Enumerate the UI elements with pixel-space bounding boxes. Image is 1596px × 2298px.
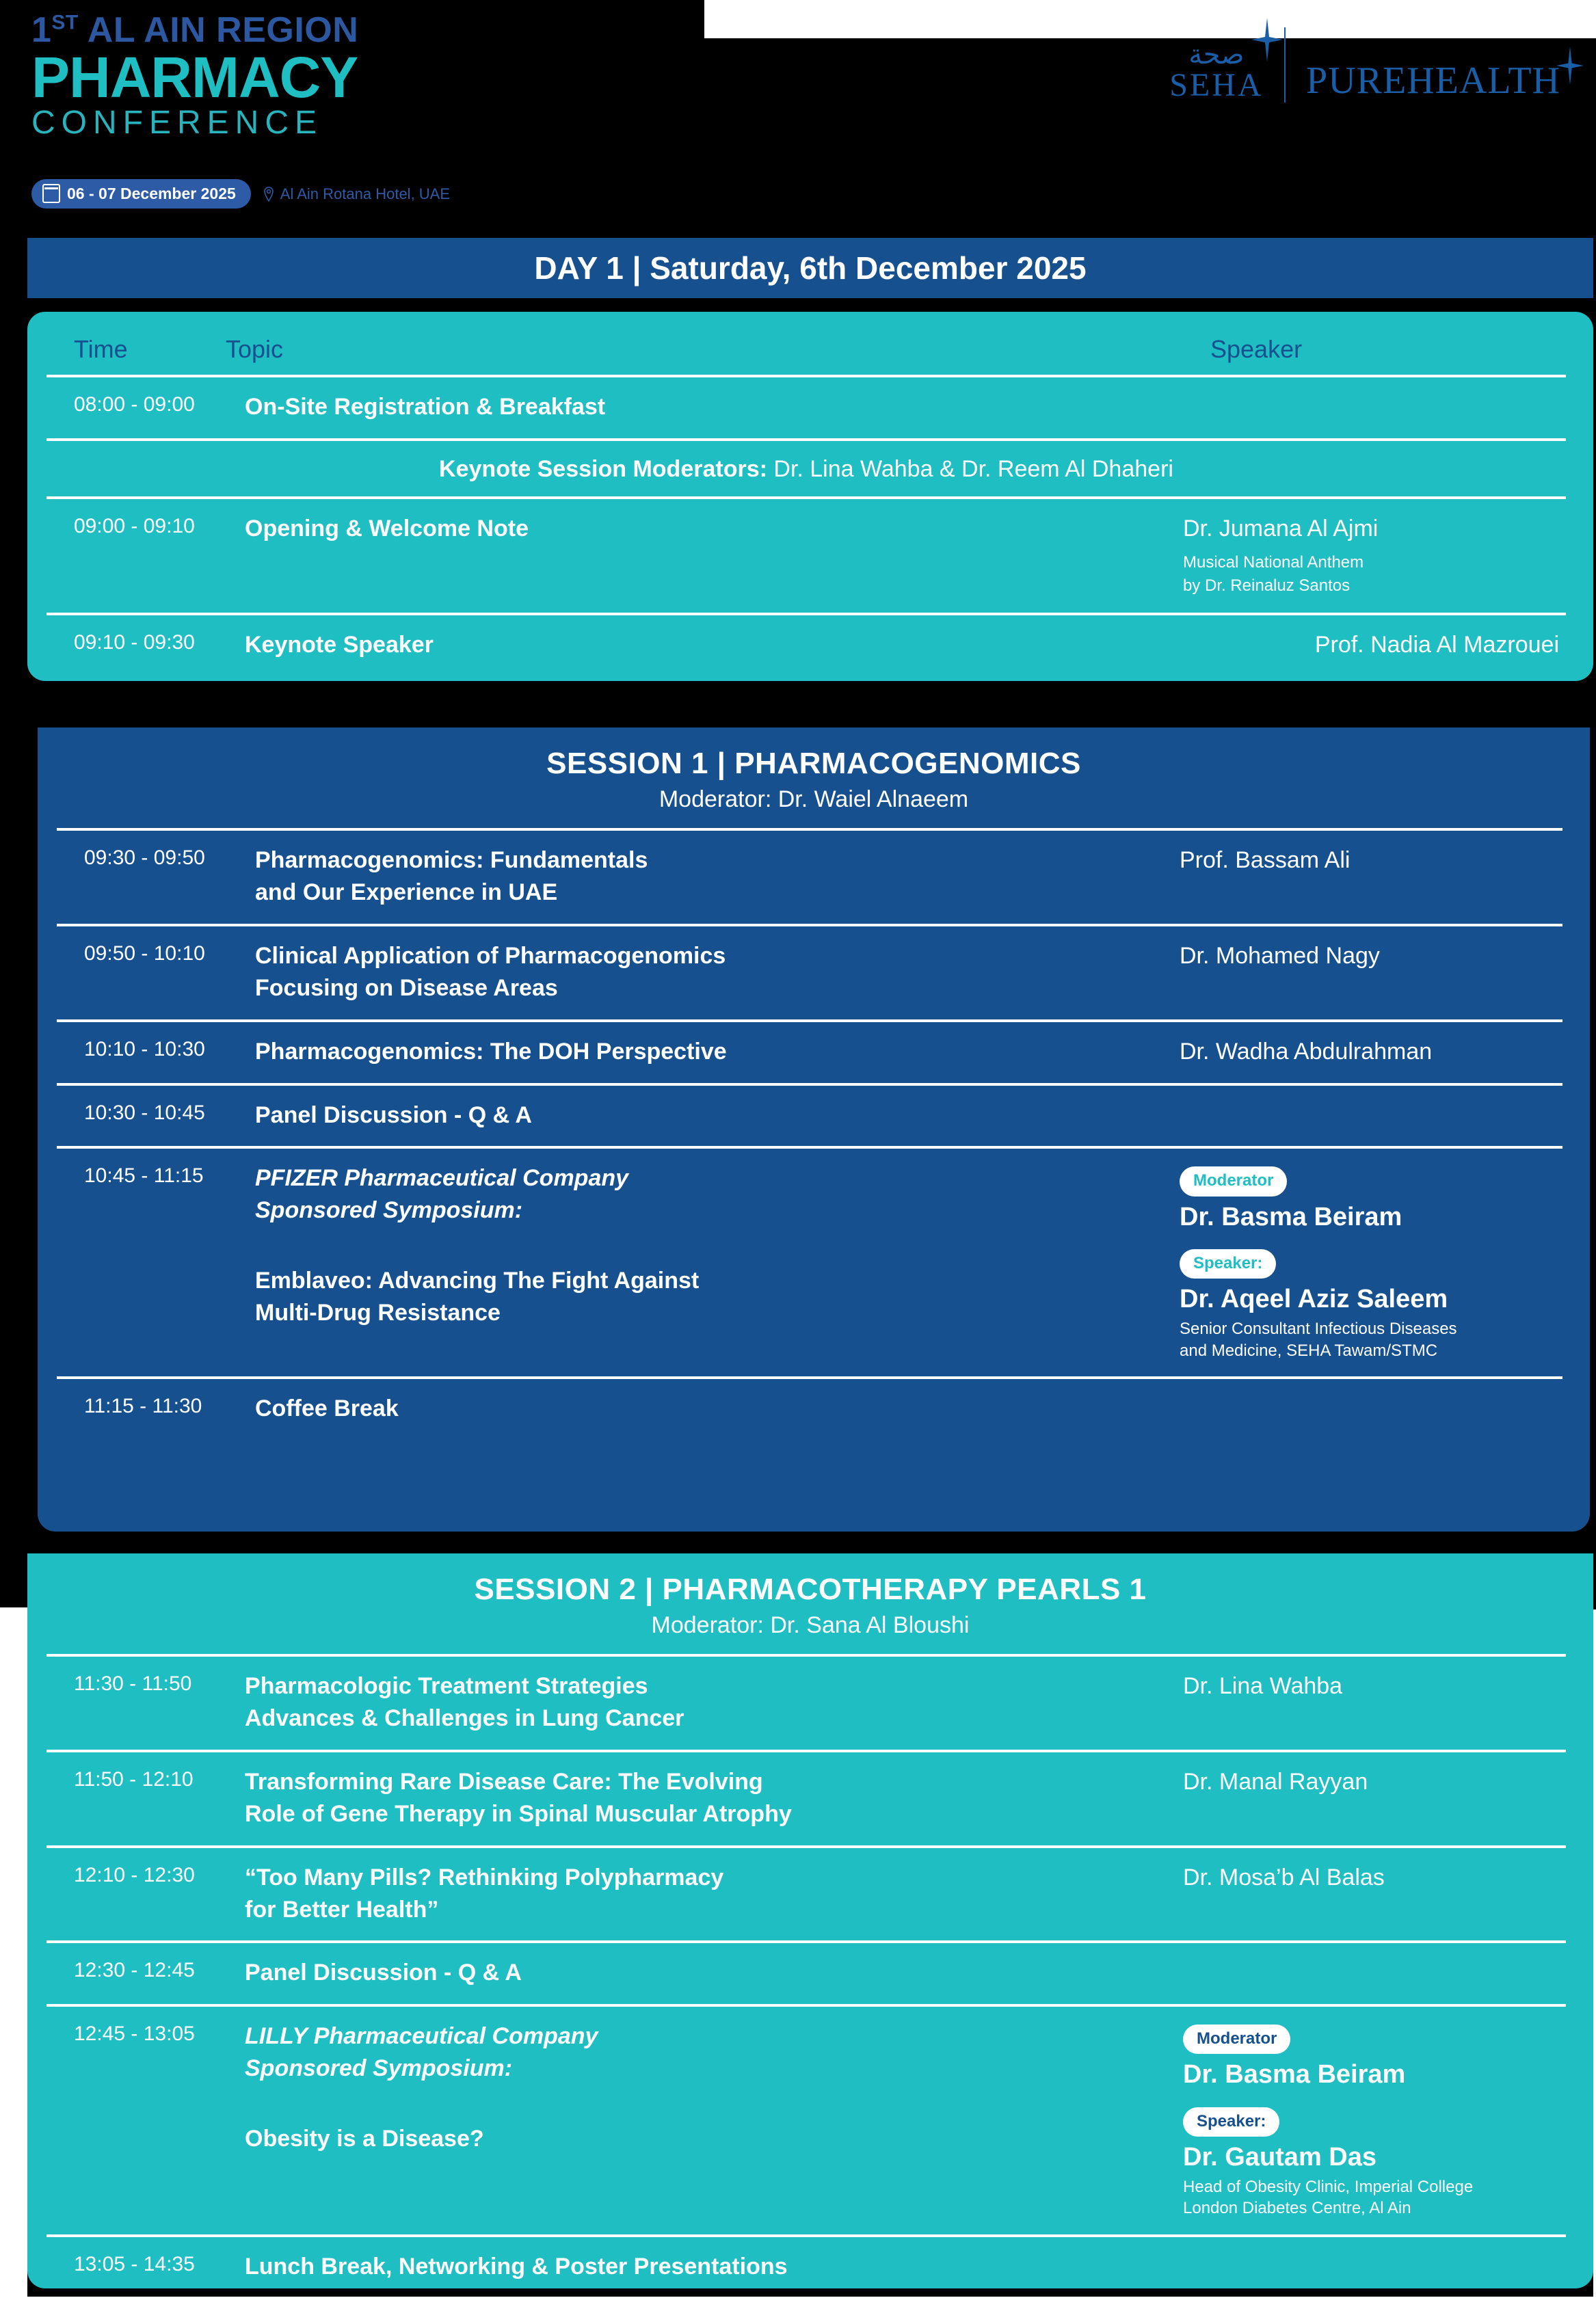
row-topic: PFIZER Pharmaceutical CompanySponsored S… (241, 1162, 1180, 1361)
partner-logos: صحة SEHA PUREHEALTH (1169, 27, 1560, 103)
row-topic: Panel Discussion - Q & A (241, 1099, 1180, 1132)
sparkle-icon-2 (1556, 46, 1584, 85)
session-2-title: SESSION 2 | PHARMACOTHERAPY PEARLS 1 (27, 1573, 1593, 1607)
speaker-block: Speaker: Dr. Gautam Das Head of Obesity … (1183, 2103, 1566, 2219)
row-time: 09:10 - 09:30 (46, 629, 231, 661)
table-row-symposium[interactable]: 10:45 - 11:15 PFIZER Pharmaceutical Comp… (57, 1146, 1562, 1376)
table-row[interactable]: 11:15 - 11:30 Coffee Break (57, 1376, 1562, 1440)
moderator-name: Dr. Basma Beiram (1180, 1202, 1562, 1233)
logo-line-pharmacy: PHARMACY (31, 51, 358, 105)
row-time: 09:50 - 10:10 (57, 940, 241, 1004)
speaker-name: Dr. Gautam Das (1183, 2142, 1566, 2174)
location-pin-icon (263, 187, 274, 202)
spacer (255, 1227, 1180, 1265)
row-topic: “Too Many Pills? Rethinking Polypharmacy… (231, 1862, 1183, 1926)
calendar-icon (42, 184, 60, 203)
logo-ordinal-suffix: ST (51, 12, 78, 34)
day-banner-label: DAY 1 | Saturday, 6th December 2025 (534, 250, 1086, 286)
row-time: 10:45 - 11:15 (57, 1162, 241, 1361)
logo-region-text: AL AIN REGION (79, 10, 359, 50)
row-time: 10:30 - 10:45 (57, 1099, 241, 1132)
speaker-block: Speaker: Dr. Aqeel Aziz Saleem Senior Co… (1180, 1245, 1562, 1361)
keynote-moderators-row: Keynote Session Moderators: Dr. Lina Wah… (46, 438, 1566, 496)
row-time: 11:50 - 12:10 (46, 1766, 231, 1830)
table-row[interactable]: 09:10 - 09:30 Keynote Speaker Prof. Nadi… (46, 613, 1566, 676)
row-speaker (1180, 1099, 1562, 1132)
symposium-sponsor: LILLY Pharmaceutical CompanySponsored Sy… (245, 2020, 1183, 2085)
row-time: 13:05 - 14:35 (46, 2251, 231, 2283)
speaker-note-2: by Dr. Reinaluz Santos (1183, 575, 1566, 597)
table-row[interactable]: 11:30 - 11:50 Pharmacologic Treatment St… (46, 1654, 1566, 1750)
row-speaker: Prof. Bassam Ali (1180, 844, 1562, 909)
speaker-badge: Speaker: (1183, 2107, 1279, 2137)
row-topic: LILLY Pharmaceutical CompanySponsored Sy… (231, 2020, 1183, 2219)
conference-logo: 1ST AL AIN REGION PHARMACY CONFERENCE (31, 12, 358, 139)
row-time: 11:15 - 11:30 (57, 1393, 241, 1425)
row-speaker (1180, 1393, 1562, 1425)
moderator-name: Dr. Basma Beiram (1183, 2059, 1566, 2091)
row-topic: Panel Discussion - Q & A (231, 1957, 1183, 1989)
header-meta: 06 - 07 December 2025 Al Ain Rotana Hote… (31, 179, 450, 209)
row-topic: Transforming Rare Disease Care: The Evol… (231, 1766, 1183, 1830)
table-row-symposium[interactable]: 12:45 - 13:05 LILLY Pharmaceutical Compa… (46, 2004, 1566, 2234)
session-2-rows: 11:30 - 11:50 Pharmacologic Treatment St… (27, 1654, 1593, 2298)
row-speaker: Moderator Dr. Basma Beiram Speaker: Dr. … (1180, 1162, 1562, 1361)
row-topic: Coffee Break (241, 1393, 1180, 1425)
speaker-name: Dr. Jumana Al Ajmi (1183, 513, 1566, 545)
date-badge-label: 06 - 07 December 2025 (67, 185, 236, 203)
speaker-name: Dr. Aqeel Aziz Saleem (1180, 1284, 1562, 1315)
logo-line-conference: CONFERENCE (31, 107, 358, 139)
column-header-topic: Topic (212, 335, 1210, 364)
session-2-card: SESSION 2 | PHARMACOTHERAPY PEARLS 1 Mod… (27, 1553, 1593, 2288)
row-time: 08:00 - 09:00 (46, 391, 231, 423)
row-topic: Lunch Break, Networking & Poster Present… (231, 2251, 1183, 2283)
row-speaker: Dr. Jumana Al Ajmi Musical National Anth… (1183, 513, 1566, 598)
row-topic: On-Site Registration & Breakfast (231, 391, 1183, 423)
seha-english: SEHA (1169, 68, 1263, 103)
row-speaker: Moderator Dr. Basma Beiram Speaker: Dr. … (1183, 2020, 1566, 2219)
row-topic: Pharmacogenomics: Fundamentalsand Our Ex… (241, 844, 1180, 909)
seha-arabic: صحة (1169, 41, 1263, 68)
session-2-title-block: SESSION 2 | PHARMACOTHERAPY PEARLS 1 Mod… (27, 1553, 1593, 1639)
speaker-badge: Speaker: (1180, 1249, 1276, 1279)
conference-header: 1ST AL AIN REGION PHARMACY CONFERENCE 06… (0, 0, 1596, 219)
row-time: 09:30 - 09:50 (57, 844, 241, 909)
row-speaker: Dr. Mohamed Nagy (1180, 940, 1562, 1004)
day-banner: DAY 1 | Saturday, 6th December 2025 (27, 238, 1593, 298)
keynote-rows: 08:00 - 09:00 On-Site Registration & Bre… (27, 375, 1593, 676)
symposium-sponsor: PFIZER Pharmaceutical CompanySponsored S… (255, 1162, 1180, 1227)
symposium-topic: Obesity is a Disease? (245, 2123, 1183, 2155)
row-speaker: Dr. Wadha Abdulrahman (1180, 1036, 1562, 1068)
venue-label: Al Ain Rotana Hotel, UAE (280, 185, 450, 203)
row-speaker: Dr. Lina Wahba (1183, 1670, 1566, 1735)
venue-info: Al Ain Rotana Hotel, UAE (263, 185, 450, 203)
row-time: 10:10 - 10:30 (57, 1036, 241, 1068)
sparkle-icon (1251, 18, 1283, 62)
moderator-badge: Moderator (1183, 2025, 1290, 2054)
table-row[interactable]: 10:10 - 10:30 Pharmacogenomics: The DOH … (57, 1019, 1562, 1083)
session-1-title: SESSION 1 | PHARMACOGENOMICS (38, 747, 1590, 781)
moderator-badge: Moderator (1180, 1166, 1287, 1196)
row-speaker (1183, 391, 1566, 423)
row-topic: Pharmacogenomics: The DOH Perspective (241, 1036, 1180, 1068)
row-speaker (1183, 2251, 1566, 2283)
symposium-topic: Emblaveo: Advancing The Fight AgainstMul… (255, 1265, 1180, 1329)
table-row[interactable]: 10:30 - 10:45 Panel Discussion - Q & A (57, 1083, 1562, 1147)
session-1-moderator: Moderator: Dr. Waiel Alnaeem (38, 786, 1590, 813)
speaker-note-1: Musical National Anthem (1183, 552, 1566, 574)
date-badge: 06 - 07 December 2025 (31, 179, 251, 209)
table-row[interactable]: 09:30 - 09:50 Pharmacogenomics: Fundamen… (57, 828, 1562, 924)
row-speaker: Dr. Mosa’b Al Balas (1183, 1862, 1566, 1926)
moderator-block: Moderator Dr. Basma Beiram (1180, 1162, 1562, 1233)
session-1-title-block: SESSION 1 | PHARMACOGENOMICS Moderator: … (38, 727, 1590, 813)
logo-divider (1284, 27, 1286, 103)
row-time: 12:45 - 13:05 (46, 2020, 231, 2219)
row-time: 12:30 - 12:45 (46, 1957, 231, 1989)
row-topic: Keynote Speaker (231, 629, 1176, 661)
row-speaker: Prof. Nadia Al Mazrouei (1176, 629, 1566, 661)
seha-logo: صحة SEHA (1169, 41, 1263, 103)
table-row[interactable]: 09:50 - 10:10 Clinical Application of Ph… (57, 924, 1562, 1019)
spacer (245, 2085, 1183, 2123)
table-row[interactable]: 12:30 - 12:45 Panel Discussion - Q & A (46, 1940, 1566, 2004)
logo-line-region: 1ST AL AIN REGION (31, 12, 358, 48)
row-speaker (1183, 1957, 1566, 1989)
table-row[interactable]: 11:50 - 12:10 Transforming Rare Disease … (46, 1750, 1566, 1845)
table-row[interactable]: 12:10 - 12:30 “Too Many Pills? Rethinkin… (46, 1845, 1566, 1941)
keynote-card: Time Topic Speaker 08:00 - 09:00 On-Site… (27, 312, 1593, 681)
table-row[interactable]: 13:05 - 14:35 Lunch Break, Networking & … (46, 2234, 1566, 2298)
table-row[interactable]: 09:00 - 09:10 Opening & Welcome Note Dr.… (46, 496, 1566, 613)
row-time: 11:30 - 11:50 (46, 1670, 231, 1735)
keynote-moderators-label: Keynote Session Moderators: (439, 456, 767, 482)
row-topic: Opening & Welcome Note (231, 513, 1183, 598)
session-1-rows: 09:30 - 09:50 Pharmacogenomics: Fundamen… (38, 828, 1590, 1440)
session-1-card: SESSION 1 | PHARMACOGENOMICS Moderator: … (38, 727, 1590, 1532)
column-header-time: Time (27, 335, 212, 364)
row-speaker: Dr. Manal Rayyan (1183, 1766, 1566, 1830)
row-topic: Clinical Application of Pharmacogenomics… (241, 940, 1180, 1004)
row-topic: Pharmacologic Treatment StrategiesAdvanc… (231, 1670, 1183, 1735)
session-2-moderator: Moderator: Dr. Sana Al Bloushi (27, 1612, 1593, 1639)
column-headers: Time Topic Speaker (27, 312, 1593, 375)
row-time: 09:00 - 09:10 (46, 513, 231, 598)
row-time: 12:10 - 12:30 (46, 1862, 231, 1926)
keynote-moderators-names: Dr. Lina Wahba & Dr. Reem Al Dhaheri (767, 456, 1173, 482)
speaker-role: Head of Obesity Clinic, Imperial College… (1183, 2176, 1566, 2219)
logo-ordinal: 1 (31, 10, 51, 50)
moderator-block: Moderator Dr. Basma Beiram (1183, 2020, 1566, 2091)
table-row[interactable]: 08:00 - 09:00 On-Site Registration & Bre… (46, 375, 1566, 438)
purehealth-logo: PUREHEALTH (1306, 59, 1560, 103)
column-header-speaker: Speaker (1210, 335, 1593, 364)
speaker-role: Senior Consultant Infectious Diseasesand… (1180, 1318, 1562, 1361)
